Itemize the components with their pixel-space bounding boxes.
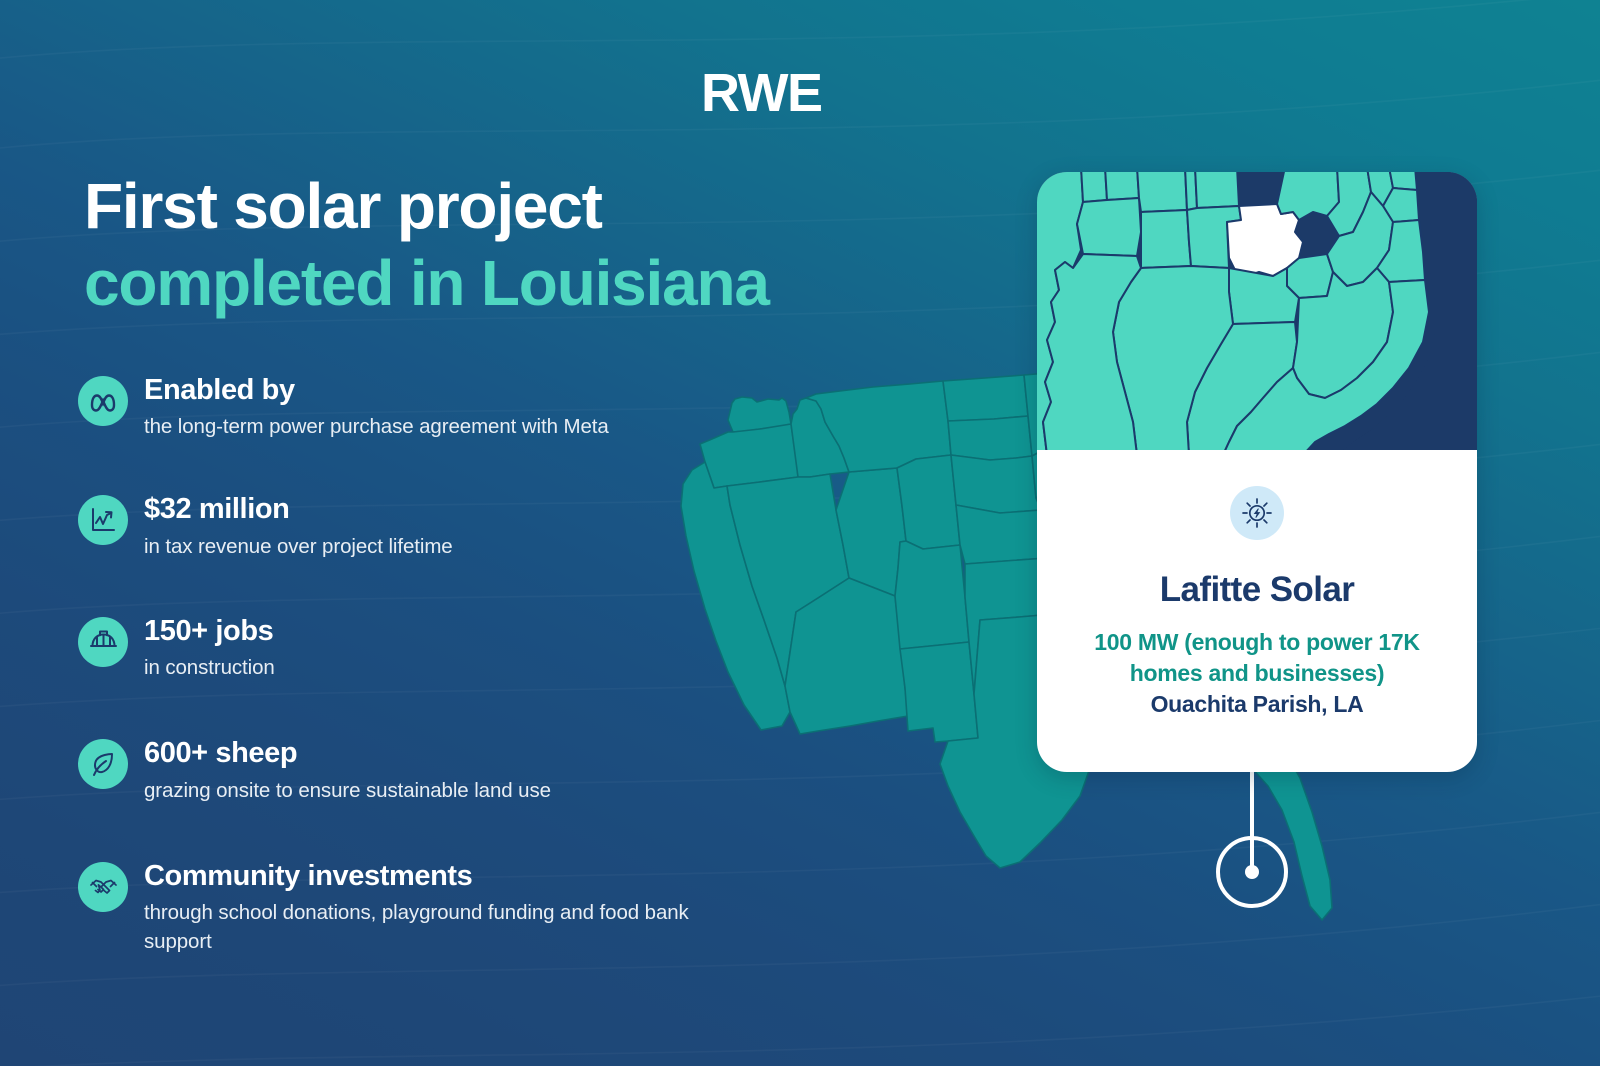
rwe-logo: RWE bbox=[701, 66, 822, 120]
project-name: Lafitte Solar bbox=[1067, 570, 1447, 610]
meta-infinity-icon bbox=[78, 376, 128, 426]
highlights-list: Enabled by the long-term power purchase … bbox=[78, 372, 698, 956]
list-item-description: the long-term power purchase agreement w… bbox=[144, 412, 698, 441]
leaf-icon bbox=[78, 739, 128, 789]
list-item-enabled-by: Enabled by the long-term power purchase … bbox=[78, 374, 698, 441]
growth-chart-icon bbox=[78, 495, 128, 545]
headline-line-2: completed in Louisiana bbox=[84, 245, 914, 322]
list-item-jobs: 150+ jobs in construction bbox=[78, 615, 698, 682]
project-capacity: 100 MW (enough to power 17K homes and bu… bbox=[1067, 627, 1447, 688]
list-item-title: $32 million bbox=[144, 493, 698, 526]
card-body: Lafitte Solar 100 MW (enough to power 17… bbox=[1037, 450, 1477, 718]
list-item-tax-revenue: $32 million in tax revenue over project … bbox=[78, 493, 698, 560]
headline-line-1: First solar project bbox=[84, 168, 914, 245]
list-item-description: through school donations, playground fun… bbox=[144, 898, 698, 956]
list-item-title: 150+ jobs bbox=[144, 615, 698, 648]
handshake-icon bbox=[78, 862, 128, 912]
parish-map bbox=[1037, 172, 1477, 450]
list-item-sheep: 600+ sheep grazing onsite to ensure sust… bbox=[78, 737, 698, 804]
list-item-title: Enabled by bbox=[144, 374, 698, 407]
list-item-title: Community investments bbox=[144, 860, 698, 893]
solar-sun-bolt-icon bbox=[1230, 486, 1284, 540]
list-item-community: Community investments through school don… bbox=[78, 860, 698, 957]
list-item-description: grazing onsite to ensure sustainable lan… bbox=[144, 776, 698, 805]
hard-hat-icon bbox=[78, 617, 128, 667]
project-info-card[interactable]: Lafitte Solar 100 MW (enough to power 17… bbox=[1037, 172, 1477, 772]
list-item-description: in tax revenue over project lifetime bbox=[144, 532, 698, 561]
project-location: Ouachita Parish, LA bbox=[1067, 691, 1447, 718]
page-title: First solar project completed in Louisia… bbox=[84, 168, 914, 322]
list-item-title: 600+ sheep bbox=[144, 737, 698, 770]
list-item-description: in construction bbox=[144, 653, 698, 682]
